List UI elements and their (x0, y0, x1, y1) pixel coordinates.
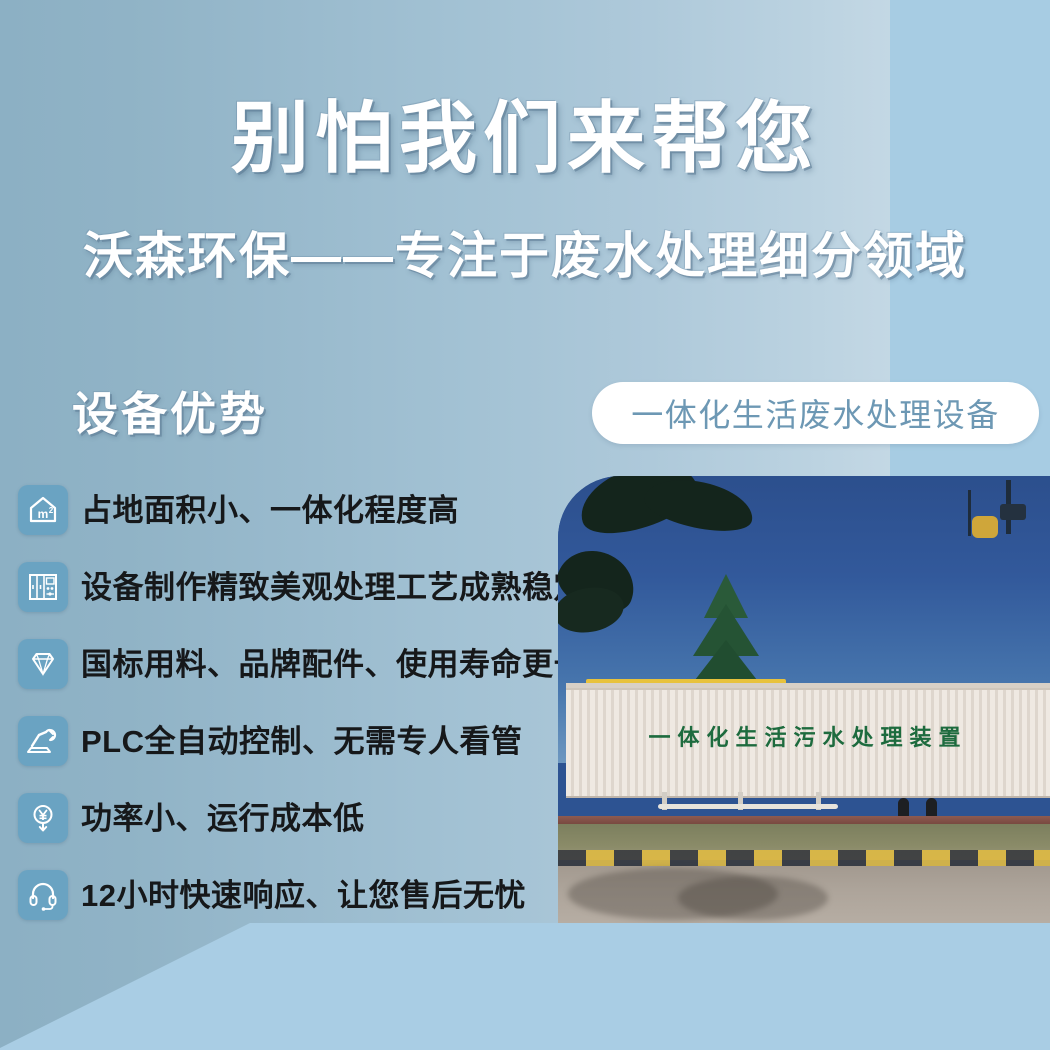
yen-cost-down-icon (18, 793, 68, 843)
list-item: m 2 占地面积小、一体化程度高 (18, 482, 558, 538)
list-item: 国标用料、品牌配件、使用寿命更长 (18, 636, 558, 692)
product-photo: 一体化生活污水处理装置 (558, 476, 1050, 925)
poster-canvas: 别怕我们来帮您 沃森环保——专注于废水处理细分领域 设备优势 一体化生活废水处理… (0, 0, 1050, 1050)
list-item: 12小时快速响应、让您售后无忧 (18, 867, 558, 923)
list-item: PLC全自动控制、无需专人看管 (18, 713, 558, 769)
page-title: 别怕我们来帮您 (0, 76, 1050, 188)
svg-text:2: 2 (49, 506, 54, 515)
list-item: 功率小、运行成本低 (18, 790, 558, 846)
mast-head (1000, 504, 1026, 520)
antenna-mast (968, 490, 971, 536)
list-item-label: 设备制作精致美观处理工艺成熟稳定 (81, 572, 585, 603)
list-item: 设备制作精致美观处理工艺成熟稳定 (18, 559, 558, 615)
container-caption: 一体化生活污水处理装置 (566, 720, 1050, 752)
advantages-list: m 2 占地面积小、一体化程度高 (18, 482, 558, 944)
diamond-icon (18, 639, 68, 689)
list-item-label: 占地面积小、一体化程度高 (81, 495, 459, 526)
robot-arm-icon (18, 716, 68, 766)
product-badge-label: 一体化生活废水处理设备 (631, 390, 1000, 436)
tree-shadow (678, 876, 828, 920)
page-subtitle: 沃森环保——专注于废水处理细分领域 (0, 216, 1050, 288)
yellow-equipment (972, 516, 998, 538)
svg-text:m: m (38, 507, 49, 521)
headset-icon (18, 870, 68, 920)
house-area-icon: m 2 (18, 485, 68, 535)
list-item-label: 国标用料、品牌配件、使用寿命更长 (81, 649, 585, 680)
list-item-label: 功率小、运行成本低 (81, 803, 365, 834)
section-title-advantages: 设备优势 (72, 378, 268, 444)
list-item-label: 12小时快速响应、让您售后无忧 (81, 880, 526, 911)
control-cabinet-icon (18, 562, 68, 612)
list-item-label: PLC全自动控制、无需专人看管 (81, 726, 523, 757)
guard-rail (658, 804, 838, 809)
product-badge: 一体化生活废水处理设备 (592, 382, 1039, 444)
